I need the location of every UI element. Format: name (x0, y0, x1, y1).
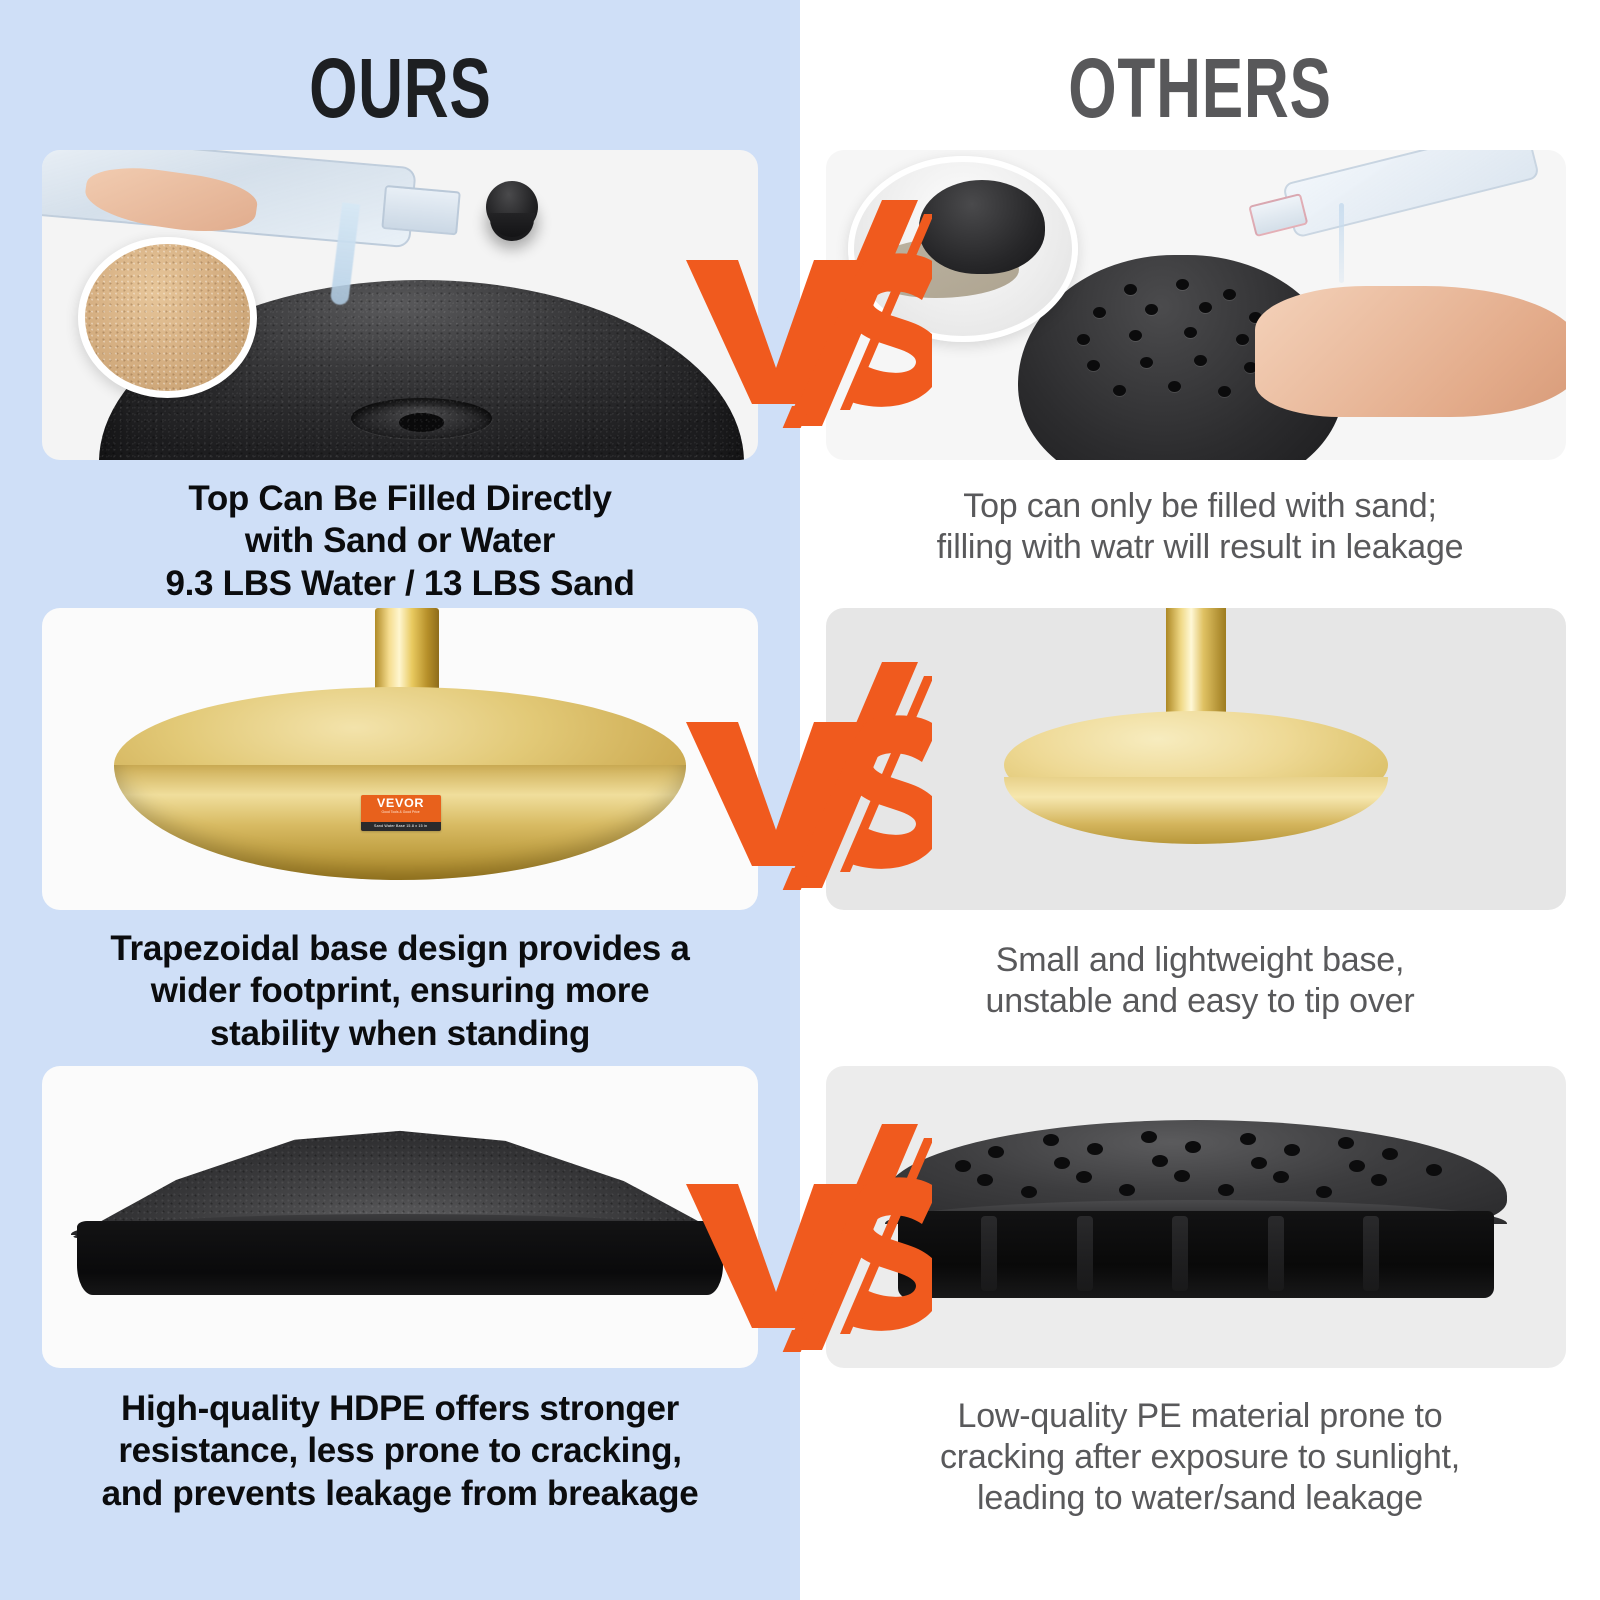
others-base-design-image (826, 608, 1566, 910)
rubber-plug-illustration (486, 181, 538, 233)
sand-closeup-bubble (78, 237, 257, 398)
vevor-sticker-bar: Sand Water Base 15.8 x 15 in (361, 822, 441, 831)
ours-fill-method-caption: Top Can Be Filled Directly with Sand or … (20, 478, 780, 605)
ours-row-material: High-quality HDPE offers stronger resist… (0, 1066, 800, 1550)
ours-row-fill-method: Top Can Be Filled Directly with Sand or … (0, 142, 800, 604)
others-fill-method-caption: Top can only be filled with sand; fillin… (820, 486, 1580, 568)
others-row-base-design: Small and lightweight base, unstable and… (800, 604, 1600, 1066)
fill-hole-icon (351, 398, 493, 439)
hand-illustration (1255, 286, 1566, 416)
ours-fill-method-image (42, 150, 758, 460)
others-base-design-caption: Small and lightweight base, unstable and… (820, 940, 1580, 1022)
small-gold-base-rim-illustration (1004, 777, 1389, 843)
ours-column-title: OURS (309, 34, 492, 142)
others-row-material: Low-quality PE material prone to crackin… (800, 1066, 1600, 1550)
leakage-closeup-bubble (848, 156, 1077, 342)
others-material-caption: Low-quality PE material prone to crackin… (820, 1396, 1580, 1519)
vevor-sticker-subtext: Good Tools & Good Price (382, 810, 420, 815)
water-bottle-illustration (1282, 150, 1540, 238)
others-column: OTHERS (800, 0, 1600, 1600)
pe-base-illustration (885, 1120, 1507, 1301)
others-row-fill-method: Top can only be filled with sand; fillin… (800, 142, 1600, 604)
hdpe-base-illustration (71, 1126, 730, 1295)
pe-interior-ribs (898, 1211, 1495, 1298)
ours-base-design-image: VEVOR Good Tools & Good Price Sand Water… (42, 608, 758, 910)
ours-material-image (42, 1066, 758, 1368)
ours-row-base-design: VEVOR Good Tools & Good Price Sand Water… (0, 604, 800, 1066)
others-material-image (826, 1066, 1566, 1368)
ours-column: OURS Top Can Be Filled Directly with San… (0, 0, 800, 1600)
vevor-logo-text: VEVOR (377, 796, 424, 810)
ours-base-design-caption: Trapezoidal base design provides a wider… (20, 928, 780, 1055)
others-fill-method-image (826, 150, 1566, 460)
pe-holes-group (922, 1131, 1469, 1208)
ours-material-caption: High-quality HDPE offers stronger resist… (20, 1388, 780, 1515)
vevor-sticker: VEVOR Good Tools & Good Price Sand Water… (361, 795, 441, 831)
others-column-title: OTHERS (1068, 34, 1331, 142)
water-drip-illustration (1339, 203, 1344, 284)
